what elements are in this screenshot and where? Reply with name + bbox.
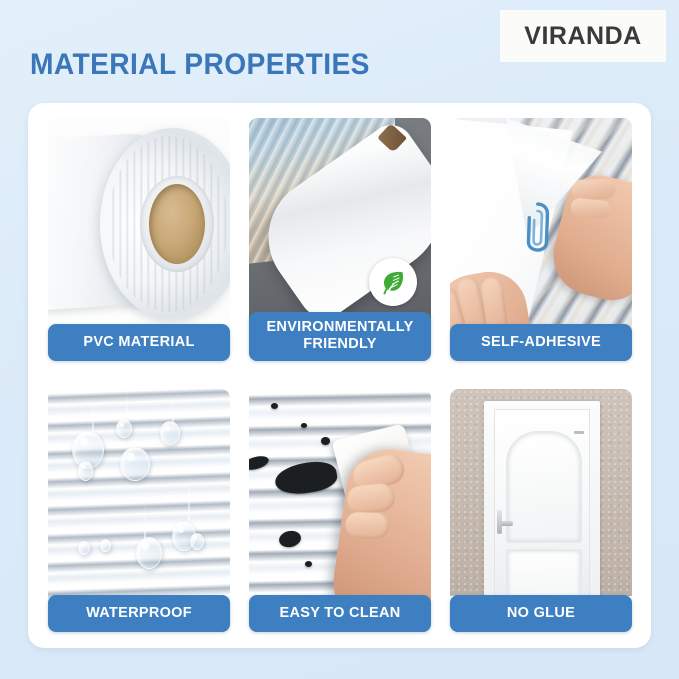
feature-card-waterproof[interactable]: WATERPROOF [48,389,230,632]
page-title: MATERIAL PROPERTIES [30,48,370,82]
feature-label-easy-to-clean: EASY TO CLEAN [249,595,431,632]
water-droplet [190,533,204,550]
pvc-cardboard-core [149,184,205,264]
water-droplet [160,421,180,445]
water-droplet [78,541,90,555]
water-trail [92,395,94,435]
water-droplet [78,461,93,481]
feature-label-self-adhesive: SELF-ADHESIVE [450,324,632,361]
infographic-page: VIRANDA MATERIAL PROPERTIES PVC MATERIAL [0,0,679,679]
water-droplet [100,539,111,552]
paperclip-icon [519,197,555,256]
stain-mark [321,437,330,445]
feature-label-waterproof: WATERPROOF [48,595,230,632]
leaf-icon [378,267,408,297]
water-droplet [120,447,150,481]
feature-label-environmentally-friendly: ENVIRONMENTALLY FRIENDLY [249,312,431,361]
feature-card-easy-to-clean[interactable]: EASY TO CLEAN [249,389,431,632]
feature-label-line-1: ENVIRONMENTALLY [266,319,413,335]
brand-name: VIRANDA [524,22,641,51]
door-hinge [574,431,584,434]
feature-label-line-2: FRIENDLY [303,336,377,352]
feature-card-environmentally-friendly[interactable]: ENVIRONMENTALLY FRIENDLY [249,118,431,361]
stain-mark [305,561,312,567]
eco-roll-edge [377,123,407,153]
feature-card-self-adhesive[interactable]: SELF-ADHESIVE [450,118,632,361]
feature-label-no-glue: NO GLUE [450,595,632,632]
stain-mark [271,403,278,409]
stain-mark [301,423,307,428]
water-droplet [136,537,162,569]
feature-label-pvc-material: PVC MATERIAL [48,324,230,361]
door-panel-top [506,431,582,543]
feature-card-pvc-material[interactable]: PVC MATERIAL [48,118,230,361]
water-trail [126,393,128,421]
door-handle [497,521,513,526]
brand-logo: VIRANDA [500,10,666,62]
water-droplet [116,419,132,438]
water-trail [188,475,190,521]
eco-badge [369,258,417,306]
feature-grid: PVC MATERIAL [48,118,631,633]
feature-card-no-glue[interactable]: NO GLUE [450,389,632,632]
